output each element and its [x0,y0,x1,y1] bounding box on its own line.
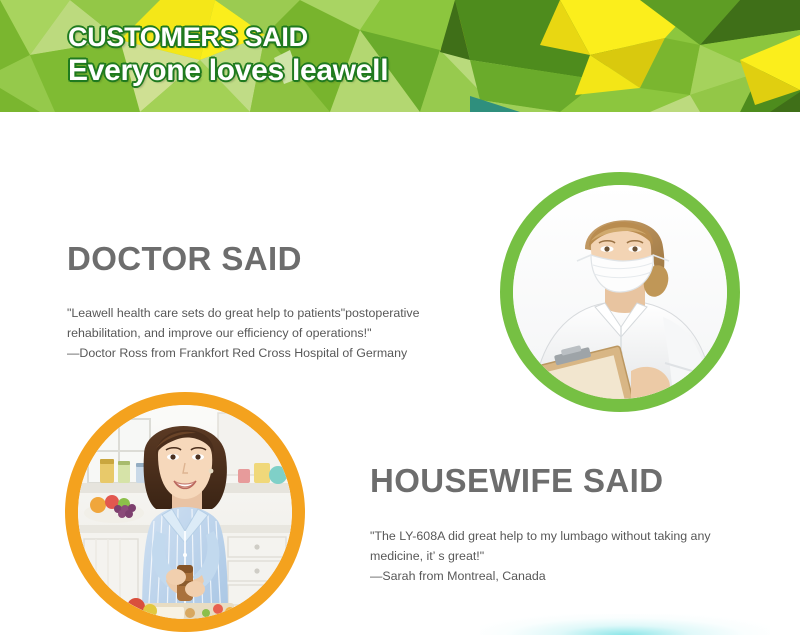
housewife-quote-line-1: "The LY-608A did great help to my lumbag… [370,529,711,543]
next-section-glow [480,614,770,635]
customers-said-banner: CUSTOMERS SAID Everyone loves leawell [0,0,800,112]
doctor-portrait-illustration [513,185,727,399]
banner-lowpoly-background [0,0,800,112]
doctor-quote-line-2: rehabilitation, and improve our efficien… [67,326,371,340]
doctor-testimonial-text: "Leawell health care sets do great help … [67,303,467,363]
housewife-photo-circle [65,392,305,632]
housewife-quote-line-2: medicine, it’ s great!" [370,549,484,563]
housewife-kitchen-illustration [78,405,292,619]
housewife-said-heading: HOUSEWIFE SAID [370,462,663,500]
doctor-attribution: —Doctor Ross from Frankfort Red Cross Ho… [67,343,467,363]
doctor-said-heading: DOCTOR SAID [67,240,302,278]
doctor-quote-line-1: "Leawell health care sets do great help … [67,306,420,320]
doctor-photo-circle [500,172,740,412]
housewife-attribution: —Sarah from Montreal, Canada [370,566,760,586]
housewife-testimonial-text: "The LY-608A did great help to my lumbag… [370,526,760,586]
